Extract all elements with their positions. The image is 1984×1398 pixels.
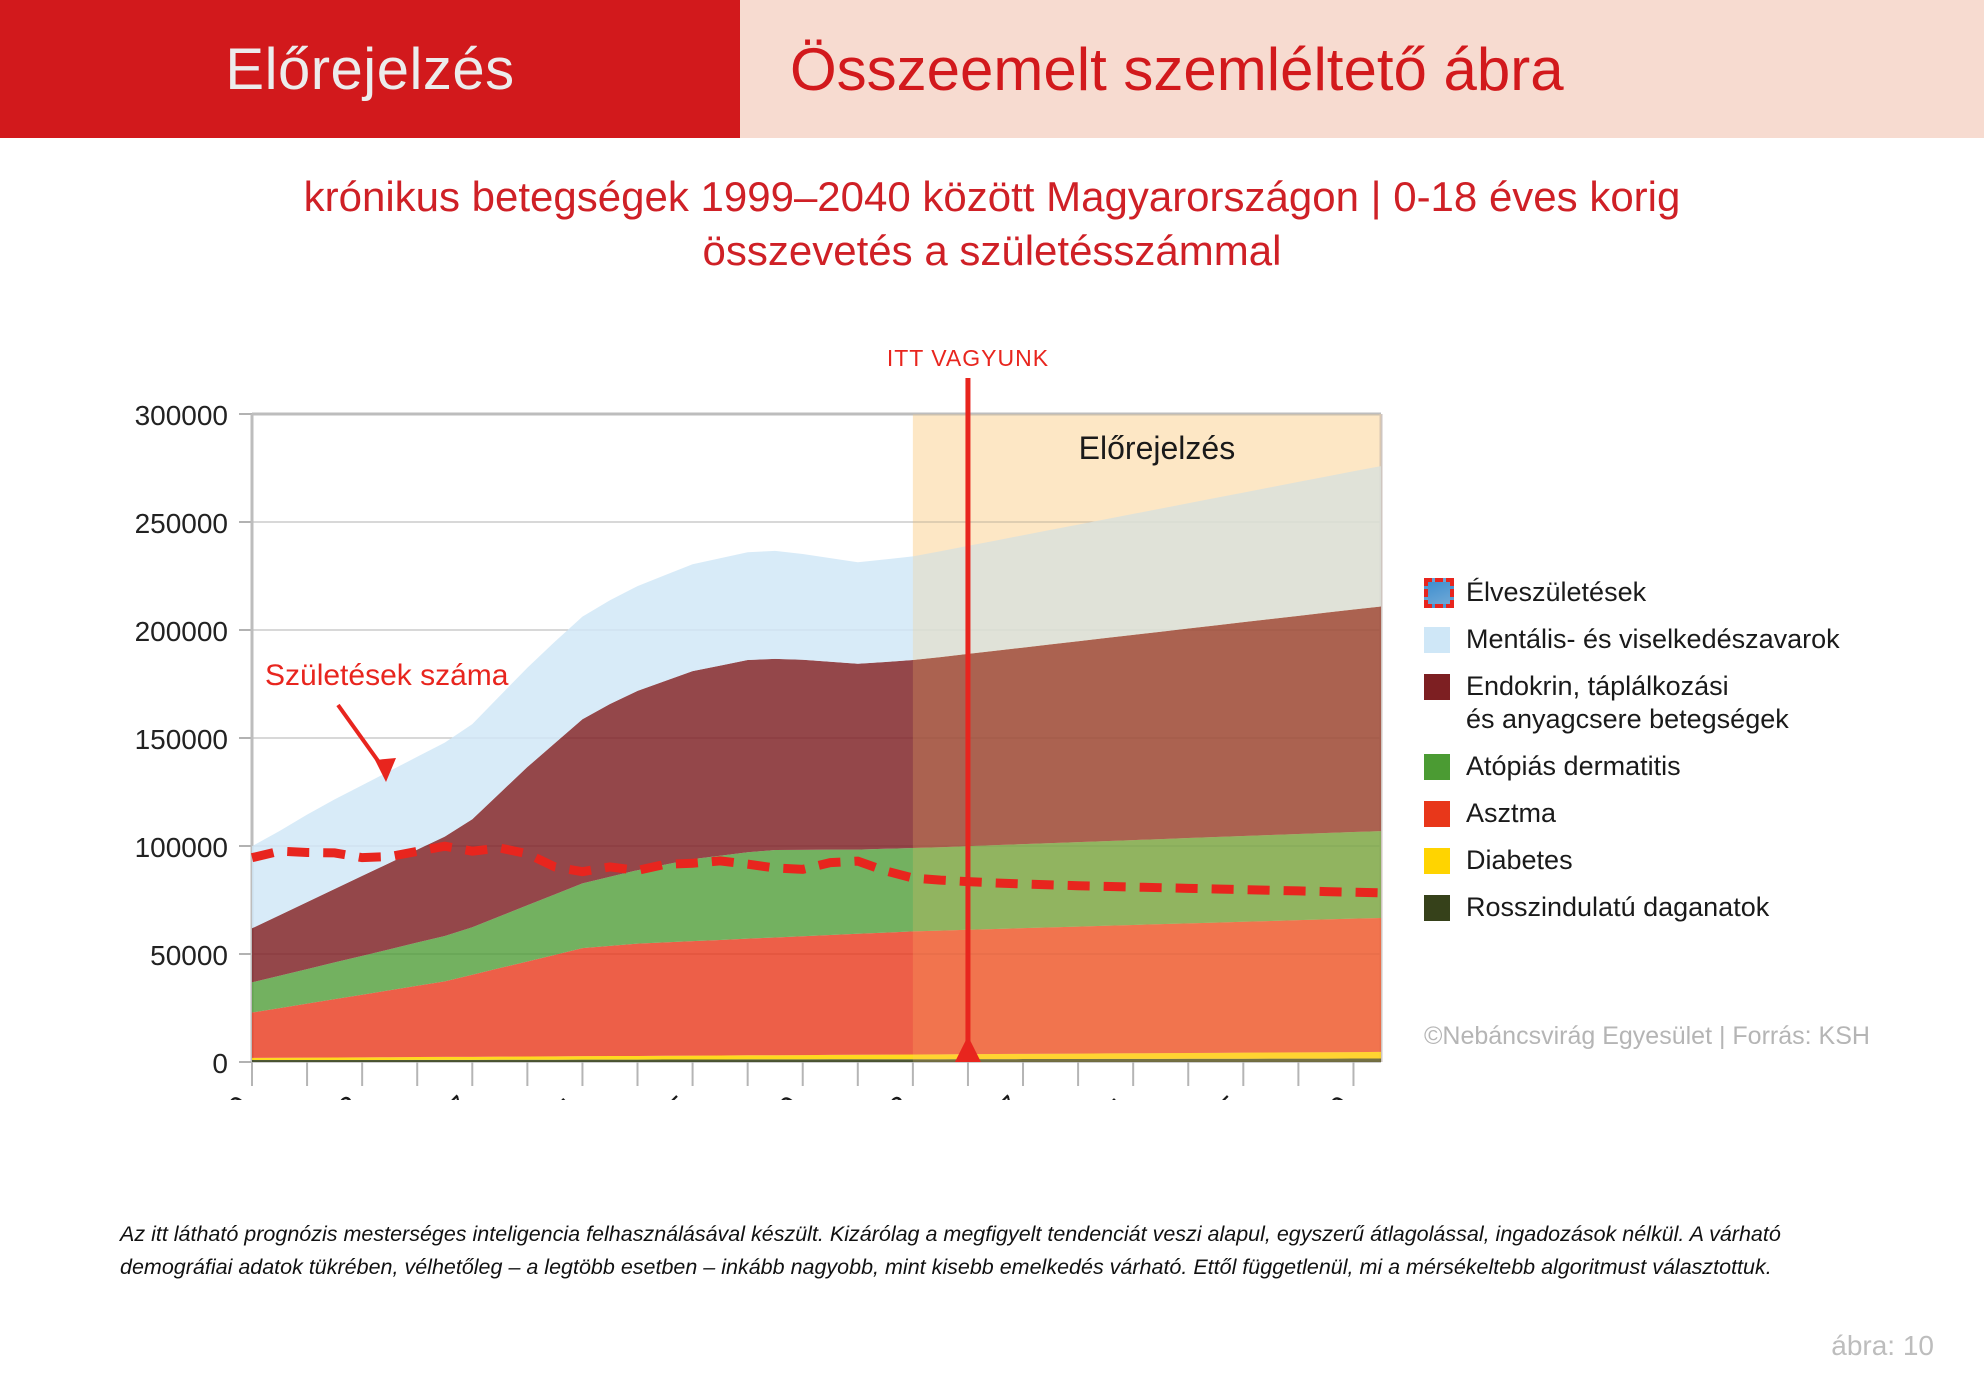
header-left-label: Előrejelzés: [225, 36, 514, 103]
legend-swatch-asztma-icon: [1424, 801, 1450, 827]
figure-number: ábra: 10: [1831, 1330, 1934, 1362]
x-axis-tick-label: 2015: [627, 1090, 698, 1100]
figure-caption: Az itt látható prognózis mesterséges int…: [120, 1218, 1880, 1285]
figure-caption-line-1: Az itt látható prognózis mesterséges int…: [120, 1222, 1781, 1246]
y-axis-tick-label: 200000: [135, 616, 228, 647]
chart-legend: Élveszületések Mentális- és viselkedésza…: [1424, 576, 1924, 938]
header-right-label: Összeemelt szemléltető ábra: [790, 35, 1564, 104]
legend-item-elveszuletesek[interactable]: Élveszületések: [1424, 576, 1924, 609]
legend-label-endokrin-line1: Endokrin, táplálkozási: [1466, 671, 1729, 701]
figure-caption-line-2: demográfiai adatok tükrében, vélhetőleg …: [120, 1251, 1880, 1284]
legend-label-mentalis: Mentális- és viselkedészavarok: [1466, 623, 1840, 656]
x-axis-tick-label: 2007: [407, 1090, 478, 1100]
x-axis-tick-label: 2039: [1288, 1090, 1359, 1100]
forecast-band-overlay: [913, 414, 1381, 1062]
x-axis-tick-label: 1999: [186, 1090, 257, 1100]
legend-item-diabetes[interactable]: Diabetes: [1424, 844, 1924, 877]
legend-item-mentalis[interactable]: Mentális- és viselkedészavarok: [1424, 623, 1924, 656]
legend-label-endokrin-line2: és anyagcsere betegségek: [1466, 703, 1789, 736]
chart-subtitle: krónikus betegségek 1999–2040 között Mag…: [0, 170, 1984, 278]
legend-item-atopias[interactable]: Atópiás dermatitis: [1424, 750, 1924, 783]
here-marker-label: ITT VAGYUNK: [887, 345, 1049, 371]
x-axis-tick-label: 2019: [737, 1090, 808, 1100]
legend-swatch-endokrin-icon: [1424, 674, 1450, 700]
legend-label-diabetes: Diabetes: [1466, 844, 1573, 877]
legend-swatch-births-icon: [1424, 578, 1454, 608]
births-annotation-label: Születések száma: [265, 659, 509, 692]
x-axis-tick-label: 2023: [847, 1090, 918, 1100]
header-right-band: Összeemelt szemléltető ábra: [740, 0, 1984, 138]
legend-label-endokrin: Endokrin, táplálkozási és anyagcsere bet…: [1466, 670, 1789, 736]
x-axis-tick-label: 2027: [957, 1090, 1028, 1100]
legend-swatch-mentalis-icon: [1424, 627, 1450, 653]
y-axis-tick-label: 50000: [150, 940, 228, 971]
legend-item-rosszindulatu[interactable]: Rosszindulatú daganatok: [1424, 891, 1924, 924]
legend-label-atopias: Atópiás dermatitis: [1466, 750, 1681, 783]
x-axis-tick-label: 2035: [1178, 1090, 1249, 1100]
chart-subtitle-line-2: összevetés a születésszámmal: [0, 224, 1984, 278]
legend-item-asztma[interactable]: Asztma: [1424, 797, 1924, 830]
y-axis-tick-label: 0: [212, 1048, 228, 1079]
legend-swatch-diabetes-icon: [1424, 848, 1450, 874]
page-header: Előrejelzés Összeemelt szemléltető ábra: [0, 0, 1984, 138]
legend-label-rosszindulatu: Rosszindulatú daganatok: [1466, 891, 1769, 924]
y-axis-tick-label: 250000: [135, 508, 228, 539]
x-axis-tick-label: 2003: [297, 1090, 368, 1100]
forecast-area-label: Előrejelzés: [1079, 430, 1236, 466]
legend-label-elveszuletesek: Élveszületések: [1466, 576, 1646, 609]
y-axis-tick-label: 150000: [135, 724, 228, 755]
legend-item-endokrin[interactable]: Endokrin, táplálkozási és anyagcsere bet…: [1424, 670, 1924, 736]
legend-swatch-rosszindulatu-icon: [1424, 895, 1450, 921]
x-axis-tick-label: 2031: [1068, 1090, 1139, 1100]
x-axis-tick-label: 2011: [518, 1090, 587, 1100]
legend-label-asztma: Asztma: [1466, 797, 1556, 830]
y-axis-tick-label: 300000: [135, 400, 228, 431]
chart-subtitle-line-1: krónikus betegségek 1999–2040 között Mag…: [0, 170, 1984, 224]
legend-swatch-atopias-icon: [1424, 754, 1450, 780]
y-axis-tick-label: 100000: [135, 832, 228, 863]
credit-text: ©Nebáncsvirág Egyesület | Forrás: KSH: [1424, 1022, 1870, 1051]
header-left-band: Előrejelzés: [0, 0, 740, 138]
